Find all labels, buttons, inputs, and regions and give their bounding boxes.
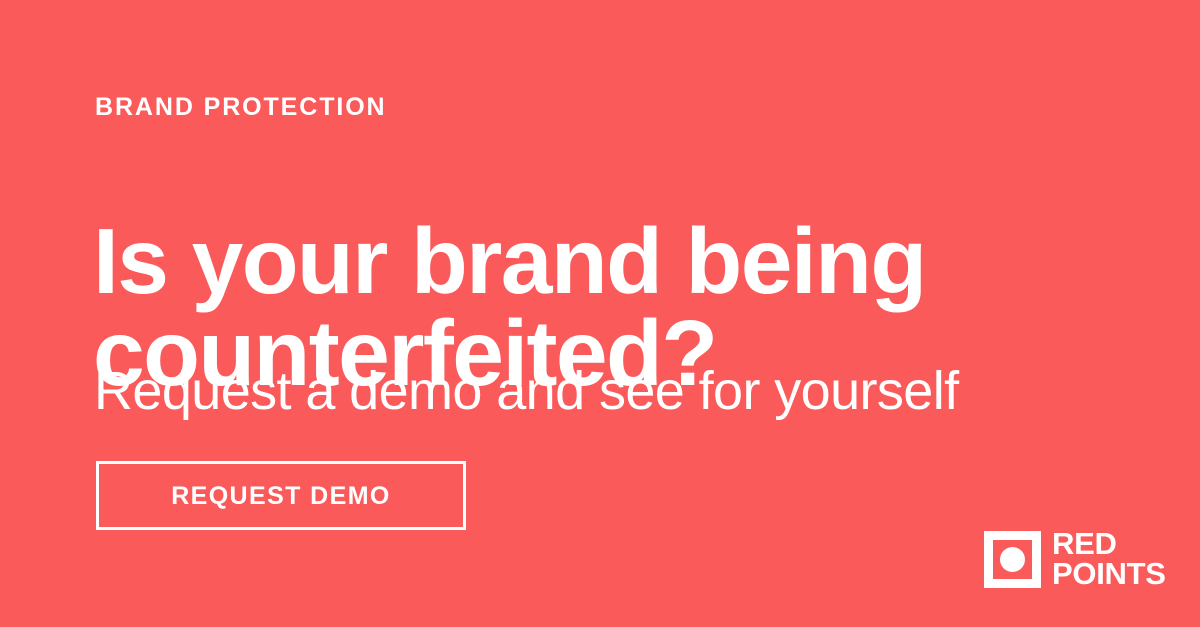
subheading-text: Request a demo and see for yourself [94, 360, 959, 422]
eyebrow-label: BRAND PROTECTION [95, 92, 387, 122]
logo-dot-icon [1000, 547, 1025, 572]
request-demo-button[interactable]: REQUEST DEMO [96, 461, 466, 530]
logo-wordmark: RED POINTS [1052, 529, 1166, 589]
logo-word-red: RED [1052, 529, 1166, 559]
logo-word-points: POINTS [1052, 559, 1166, 589]
request-demo-button-label: REQUEST DEMO [171, 482, 391, 510]
red-points-logo: RED POINTS [984, 529, 1166, 589]
promo-banner: BRAND PROTECTION Is your brand being cou… [0, 0, 1200, 627]
square-with-circle-icon [984, 531, 1041, 588]
headline-line-1: Is your brand being [93, 215, 1053, 307]
